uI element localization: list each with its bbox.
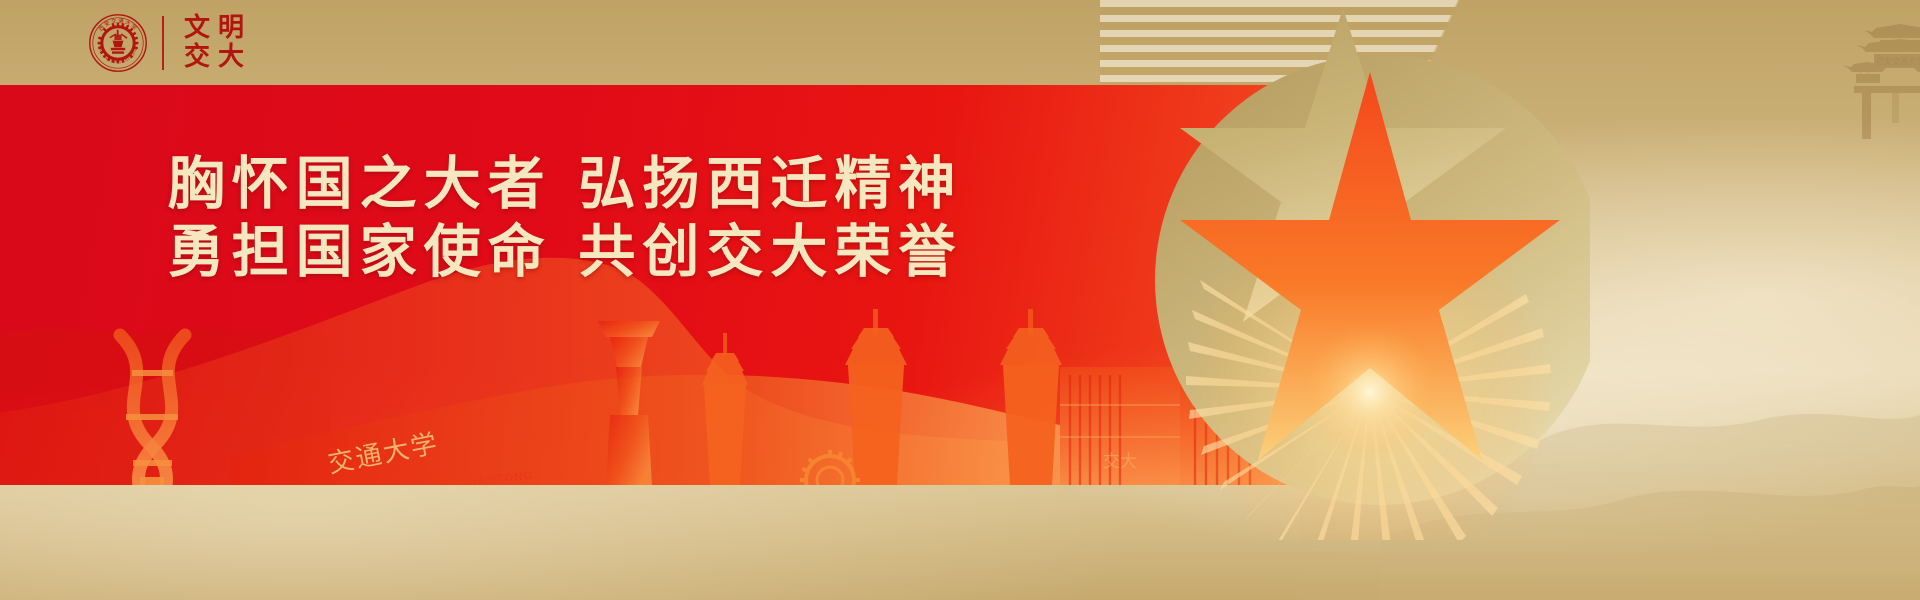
lamp-pillar xyxy=(845,309,907,485)
sculpture-base xyxy=(140,477,164,485)
lamp-pillar xyxy=(1000,309,1062,485)
lamp-pillar xyxy=(702,333,748,485)
university-banner: 西安交通大学 xyxy=(0,0,1920,600)
paifang-plaque-text: 西安交通大学 xyxy=(1876,56,1920,66)
star-core-glow xyxy=(1300,322,1440,462)
university-seal-icon: 西安交通大学 XI'AN JIAOTONG UNIVERSITY xyxy=(88,13,148,73)
slogan-block: 胸怀国之大者 弘扬西迁精神 勇担国家使命 共创交大荣誉 xyxy=(0,150,1130,286)
paifang-archway-icon: 西安交通大学 xyxy=(1830,8,1920,148)
star-emblem-graphic xyxy=(1070,0,1590,540)
brand-divider xyxy=(162,16,164,70)
brand-word-4: 大 xyxy=(216,43,246,72)
brand-word-1: 文 xyxy=(182,14,212,43)
brand-wordmark: 文 明 交 大 xyxy=(182,14,246,72)
brand-lockup: 西安交通大学 XI'AN JIAOTONG UNIVERSITY 文 明 交 大 xyxy=(88,12,246,74)
slogan-line-2: 勇担国家使命 共创交大荣誉 xyxy=(0,218,1130,286)
brand-word-3: 交 xyxy=(182,43,212,72)
brand-word-2: 明 xyxy=(216,14,246,43)
slogan-line-1: 胸怀国之大者 弘扬西迁精神 xyxy=(0,150,1130,218)
